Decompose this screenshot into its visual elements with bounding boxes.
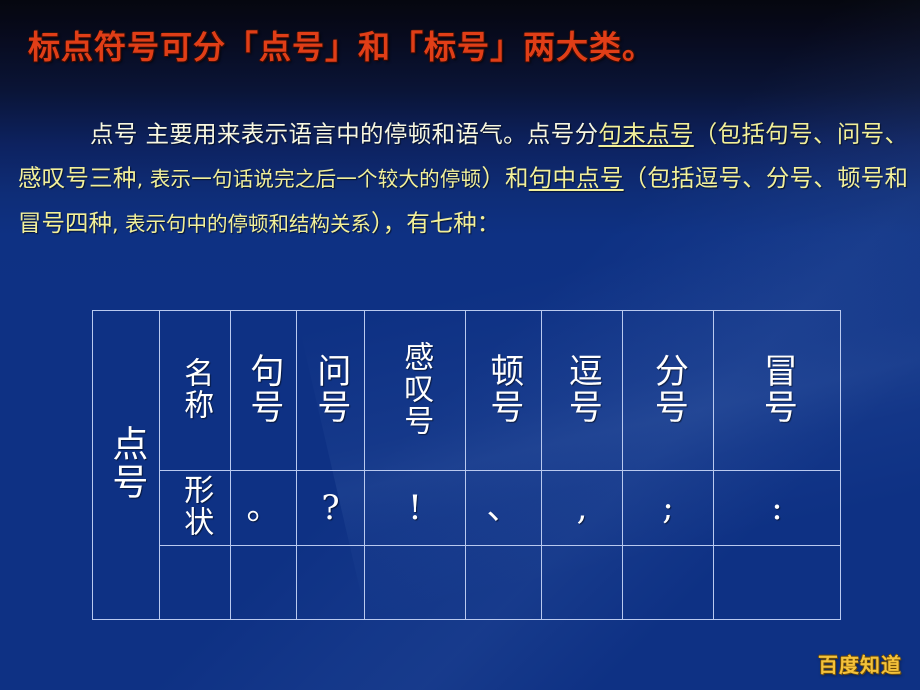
underlined-term-sentence-end: 句末点号 (598, 120, 693, 148)
punctuation-glyph: 。 (247, 491, 281, 525)
table-cell-shape-0: 。 (231, 471, 297, 546)
table-cell-blank-2 (297, 546, 365, 620)
table-cell-blank-3 (365, 546, 466, 620)
table-cell-shape-6: : (714, 471, 841, 546)
punctuation-glyph: ! (408, 491, 422, 525)
punctuation-glyph: ; (662, 491, 673, 525)
table-cell-header-4: 逗号 (542, 311, 623, 471)
header-text: 句号 (246, 353, 281, 425)
table-cell-header-0: 句号 (231, 311, 297, 471)
table-cell-shape-3: 、 (466, 471, 542, 546)
table-cell-category-label: 点号 (93, 311, 160, 620)
table-cell-shape-5: ; (623, 471, 714, 546)
table-cell-header-3: 顿号 (466, 311, 542, 471)
body-segment-5: ），有七种： (371, 209, 500, 237)
table-cell-blank-6 (623, 546, 714, 620)
punctuation-table-wrapper: 点号 名称 句号 问号 感叹号 顿号 逗号 (92, 310, 831, 619)
header-text: 逗号 (565, 353, 600, 425)
body-segment-4-small: , 表示句中的停顿和结构关系 (112, 212, 371, 236)
table-cell-header-1: 问号 (297, 311, 365, 471)
table-cell-blank-5 (542, 546, 623, 620)
underlined-term-sentence-mid: 句中点号 (529, 164, 624, 192)
table-cell-shape-2: ! (365, 471, 466, 546)
table-row (93, 546, 841, 620)
body-segment-1: 点号 主要用来表示语言中的停顿和语气。点号分 (90, 120, 598, 148)
punctuation-table: 点号 名称 句号 问号 感叹号 顿号 逗号 (92, 310, 841, 620)
punctuation-glyph: ? (321, 491, 339, 525)
table-cell-shape-4: , (542, 471, 623, 546)
header-text: 问号 (313, 353, 348, 425)
watermark-logo: 百度知道 (818, 649, 902, 678)
header-text: 感叹号 (400, 341, 431, 437)
slide-title: 标点符号可分「点号」和「标号」两大类。 (28, 22, 898, 68)
slide-canvas: 标点符号可分「点号」和「标号」两大类。 点号 主要用来表示语言中的停顿和语气。点… (0, 0, 920, 690)
table-cell-header-name: 名称 (160, 311, 231, 471)
header-text: 顿号 (486, 353, 521, 425)
header-text: 分号 (651, 353, 686, 425)
table-row: 点号 名称 句号 问号 感叹号 顿号 逗号 (93, 311, 841, 471)
shape-label-text: 形状 (180, 474, 211, 538)
table-cell-blank-7 (714, 546, 841, 620)
table-cell-blank-1 (231, 546, 297, 620)
table-cell-header-5: 分号 (623, 311, 714, 471)
table-cell-shape-1: ? (297, 471, 365, 546)
table-row: 形状 。 ? ! 、 , ; (93, 471, 841, 546)
body-paragraph: 点号 主要用来表示语言中的停顿和语气。点号分句末点号（包括句号、问号、感叹号三种… (18, 112, 908, 246)
table-cell-blank-0 (160, 546, 231, 620)
punctuation-glyph: 、 (487, 491, 521, 525)
body-segment-2-small: , 表示一句话说完之后一个较大的停顿 (137, 167, 482, 191)
category-label-text: 点号 (108, 425, 145, 501)
punctuation-glyph: , (577, 491, 588, 525)
table-cell-header-6: 冒号 (714, 311, 841, 471)
body-segment-3: ）和 (481, 164, 528, 192)
punctuation-glyph: : (771, 491, 782, 525)
table-cell-shape-label: 形状 (160, 471, 231, 546)
table-cell-header-2: 感叹号 (365, 311, 466, 471)
header-text: 冒号 (760, 353, 795, 425)
table-cell-blank-4 (466, 546, 542, 620)
header-name-text: 名称 (180, 357, 211, 421)
